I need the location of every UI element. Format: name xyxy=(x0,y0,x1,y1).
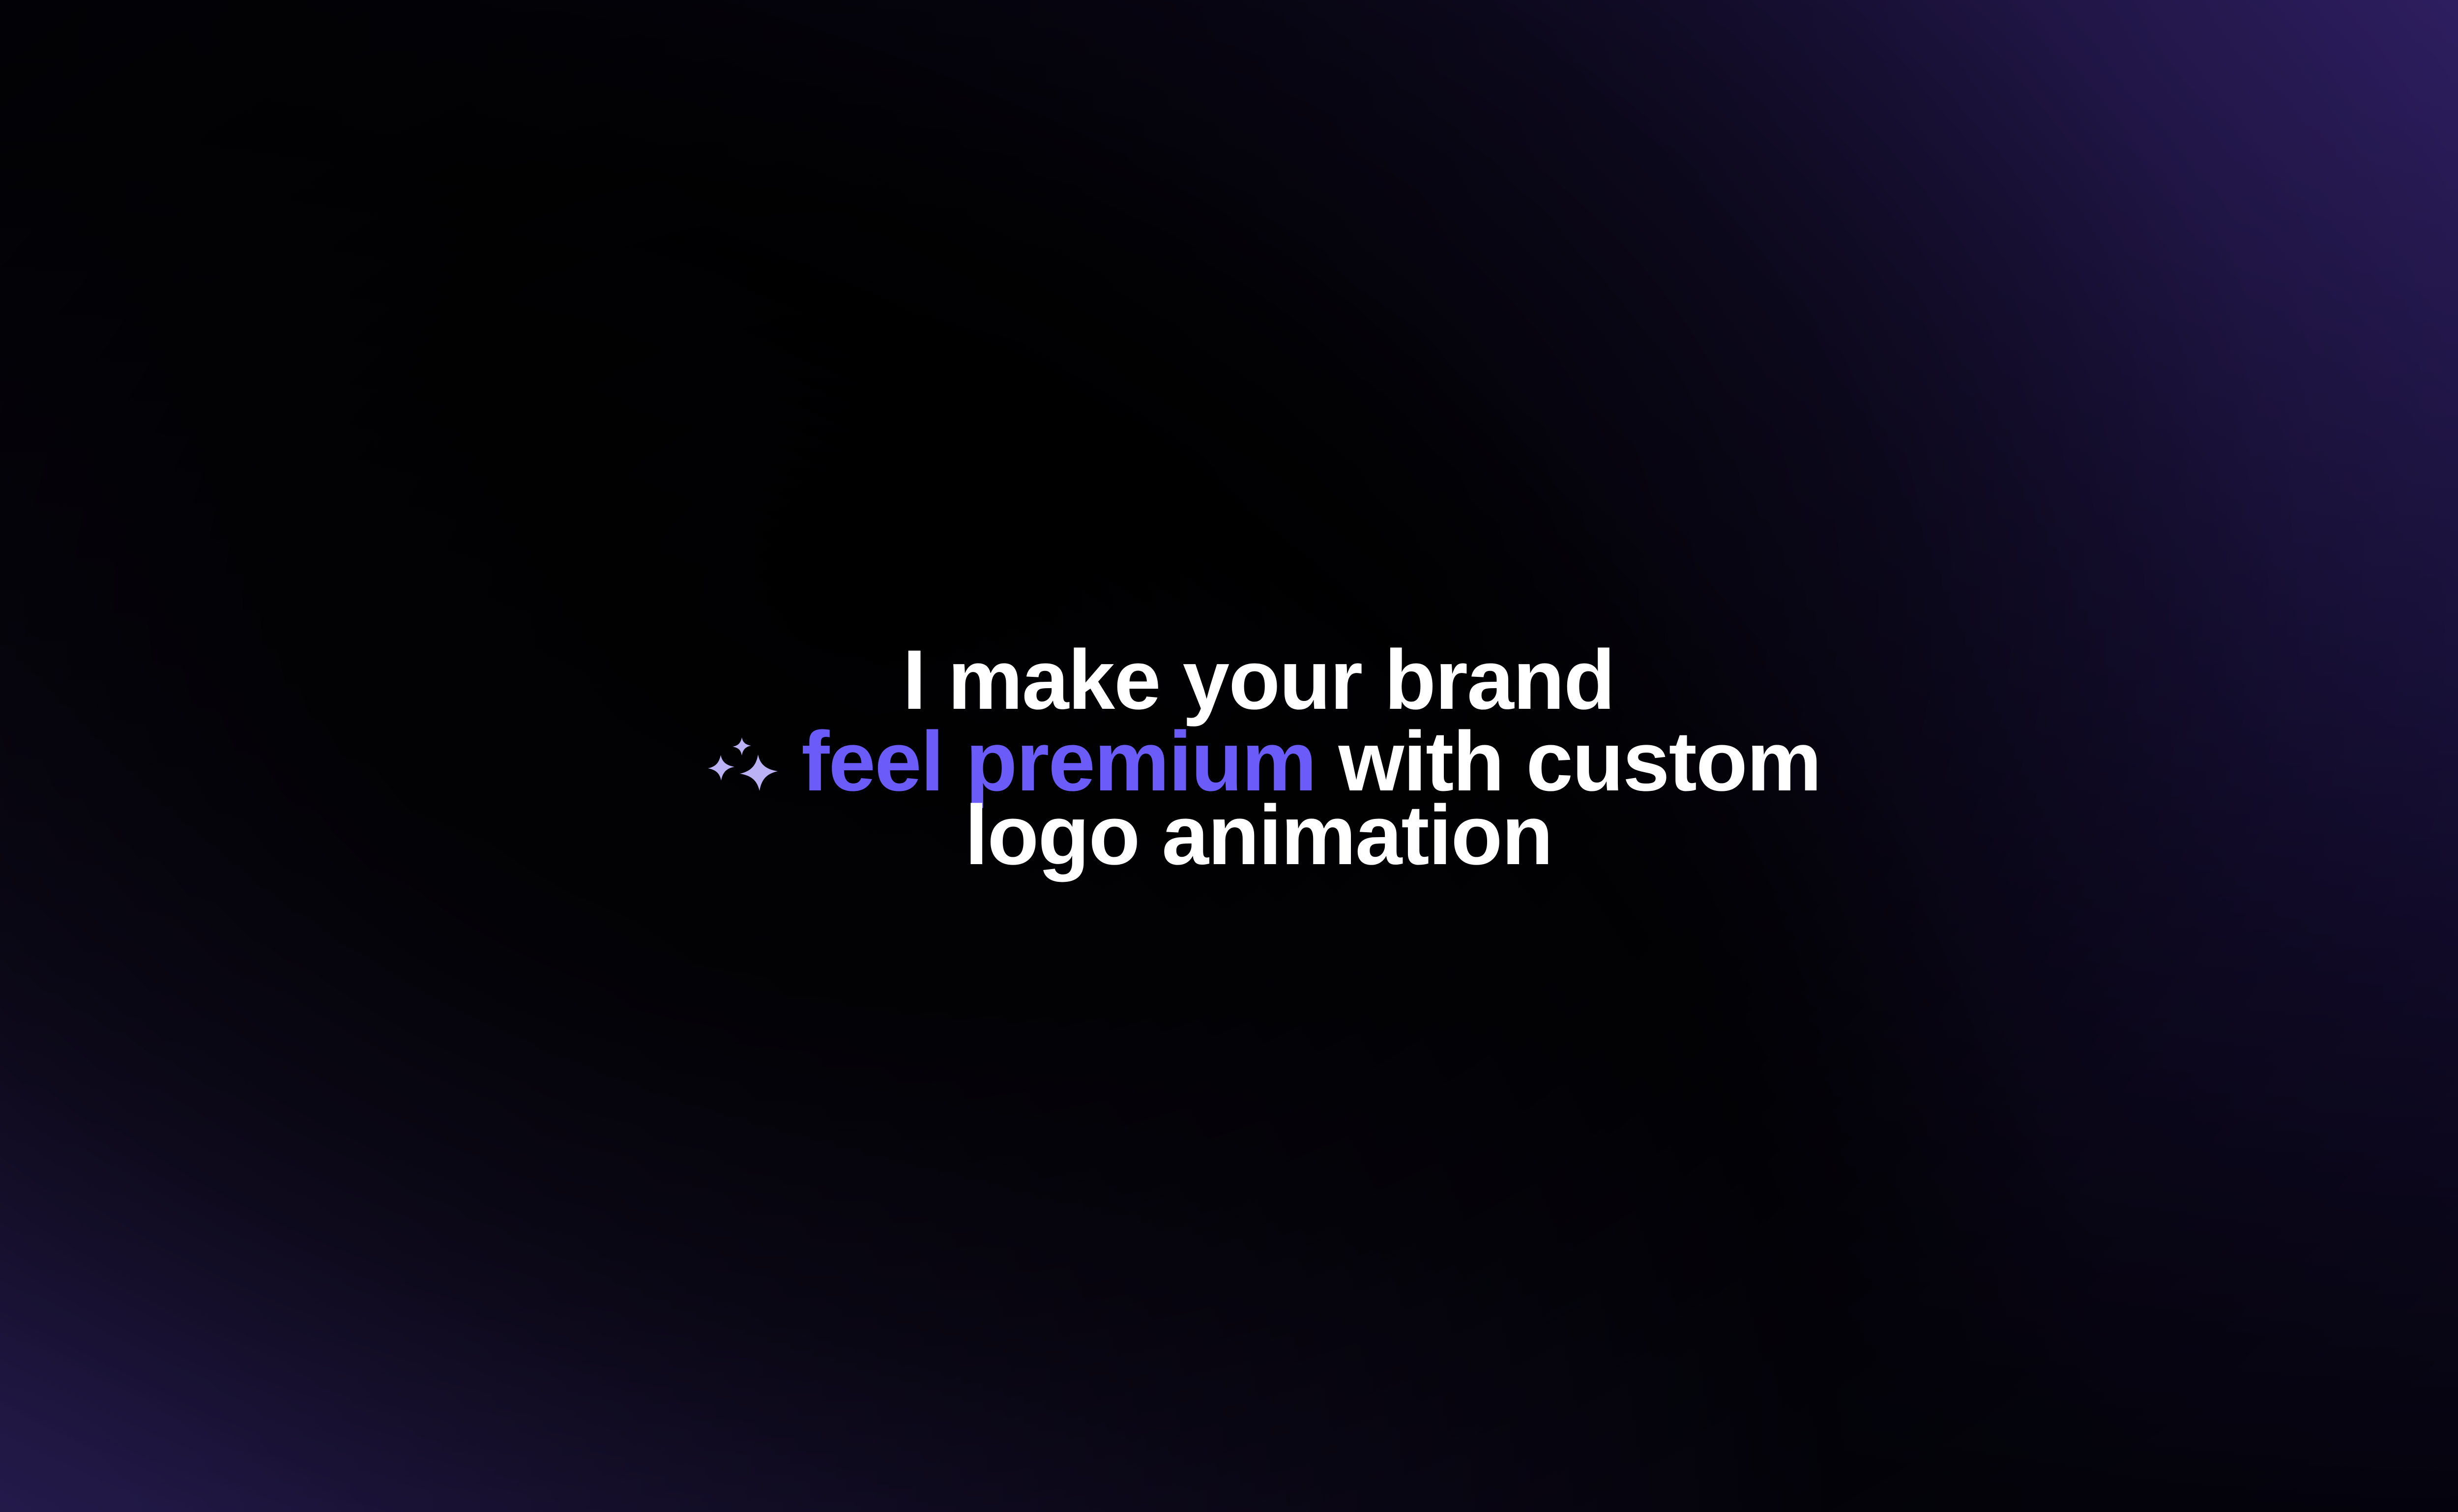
headline-line-3-text: logo animation xyxy=(965,788,1552,882)
hero-canvas: I make your brand feel premium with cust… xyxy=(0,0,2458,1512)
headline-line-2: feel premium with custom xyxy=(0,717,2458,798)
headline-line-3: logo animation xyxy=(0,798,2458,872)
sparkles-icon xyxy=(696,733,799,807)
headline-line-1: I make your brand xyxy=(0,643,2458,717)
hero-headline: I make your brand feel premium with cust… xyxy=(0,643,2458,872)
headline-line-1-text: I make your brand xyxy=(903,633,1614,727)
